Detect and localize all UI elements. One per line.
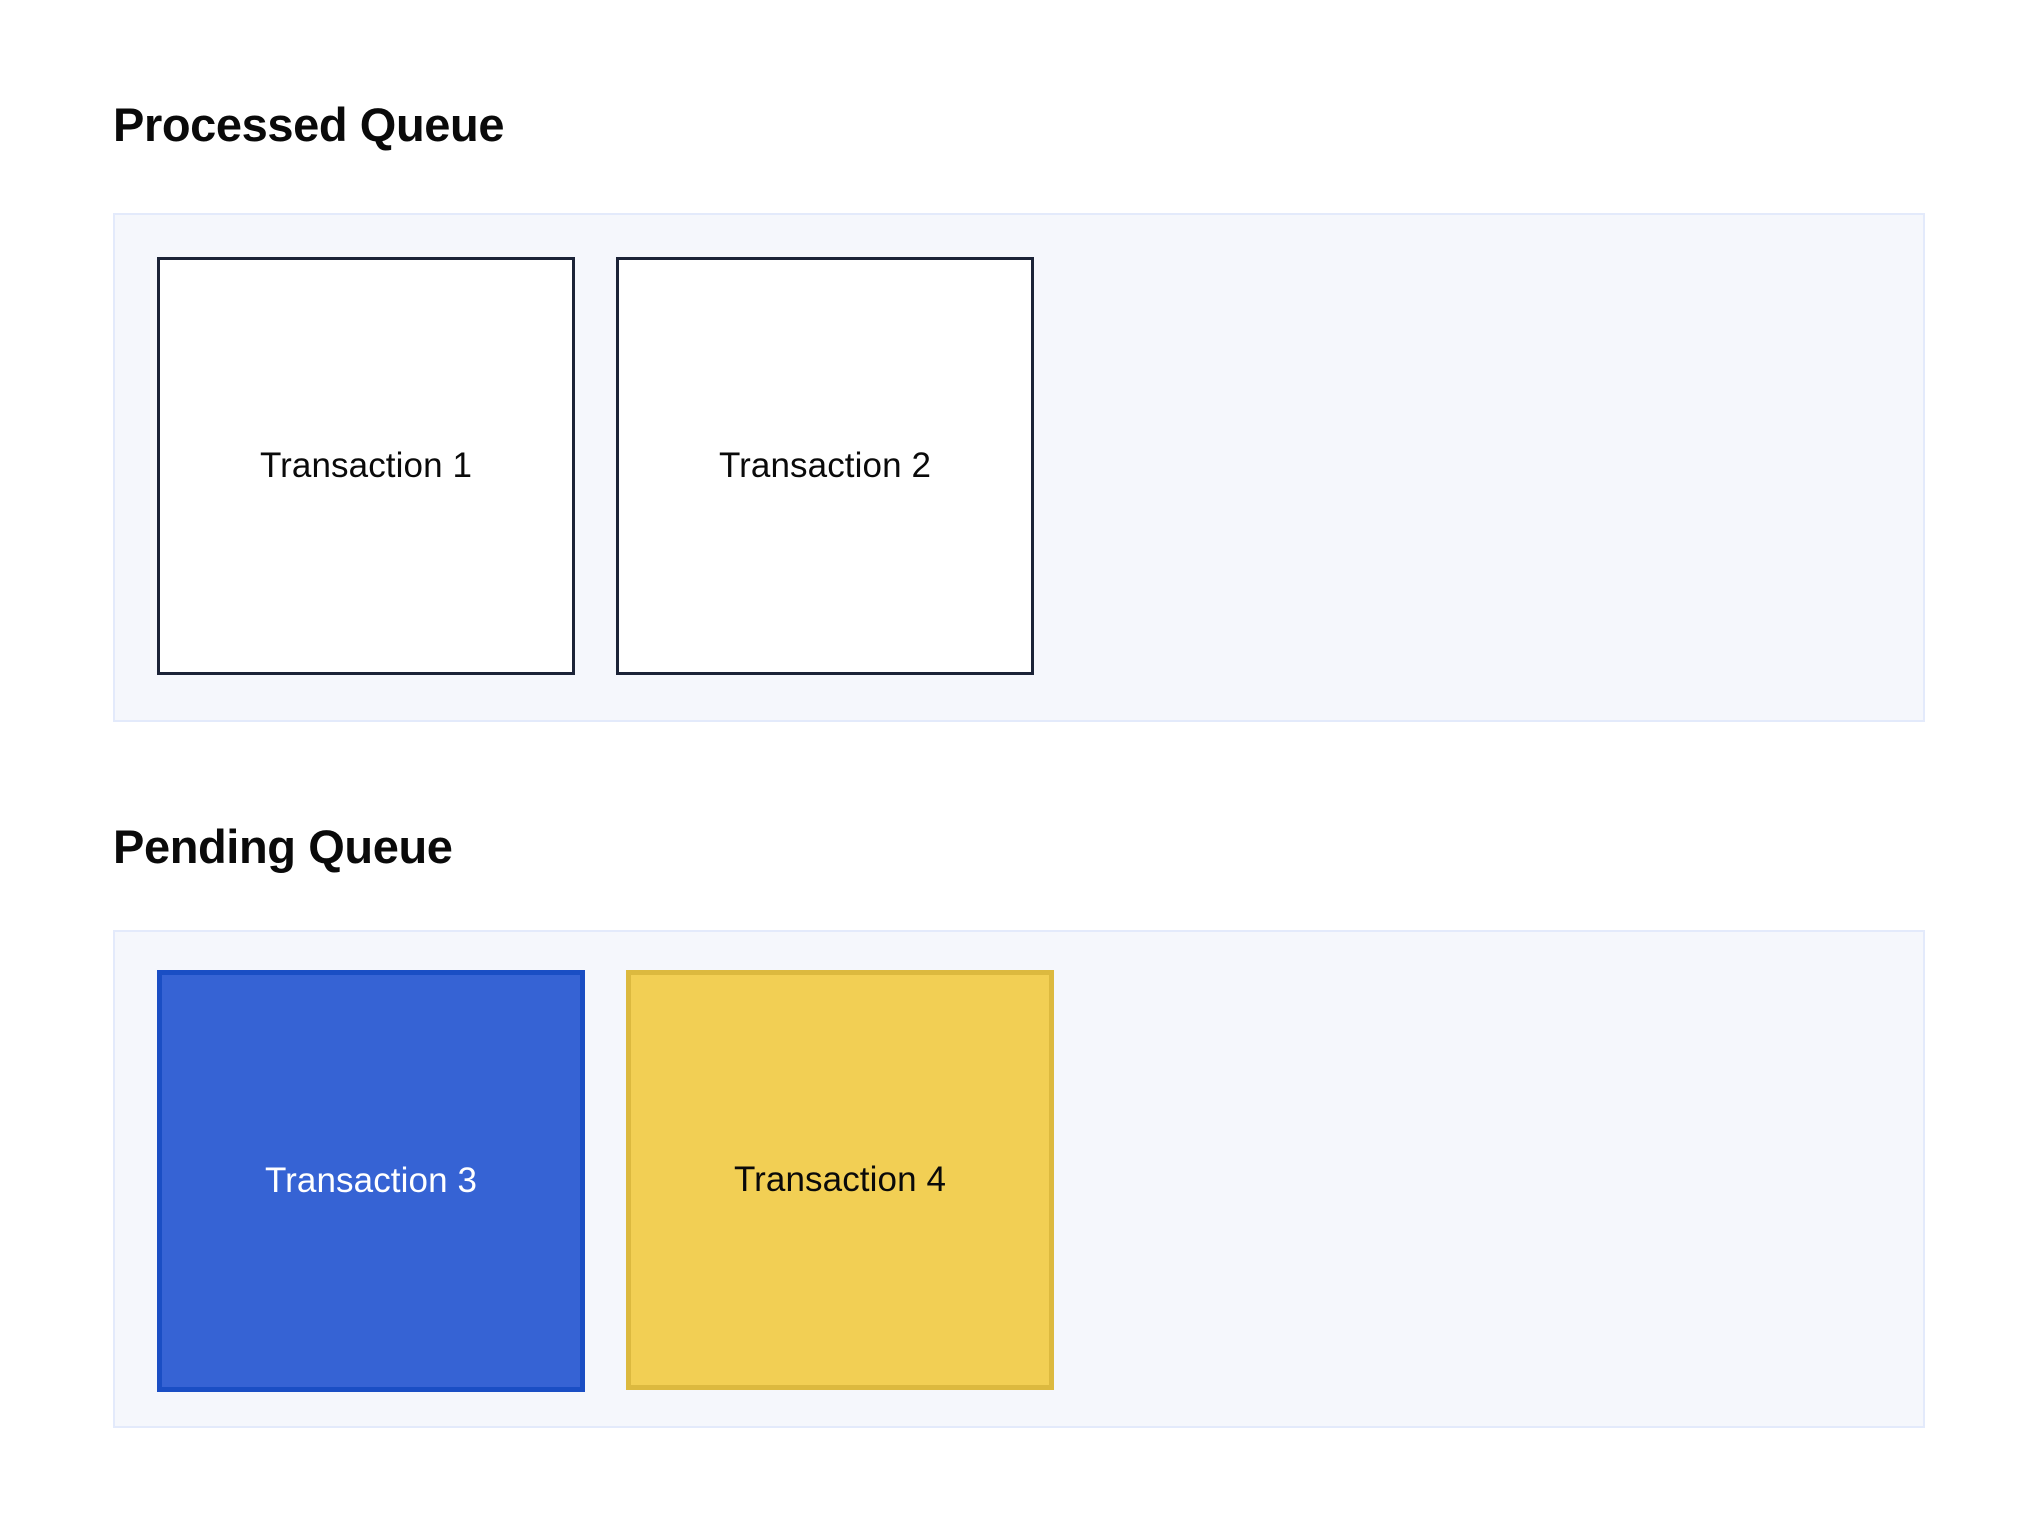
transaction-card-transaction-3[interactable]: Transaction 3 xyxy=(157,970,585,1392)
transaction-card-transaction-1[interactable]: Transaction 1 xyxy=(157,257,575,675)
transaction-card-transaction-4[interactable]: Transaction 4 xyxy=(626,970,1054,1390)
transaction-card-label-transaction-1: Transaction 1 xyxy=(260,445,472,487)
section-title-processed-queue: Processed Queue xyxy=(113,100,1925,149)
queue-visualization-canvas: Processed Queue Transaction 1 Transactio… xyxy=(0,0,2036,1532)
queue-track-pending-queue[interactable]: Transaction 3 Transaction 4 xyxy=(113,930,1925,1428)
transaction-card-label-transaction-4: Transaction 4 xyxy=(734,1159,946,1201)
transaction-card-transaction-2[interactable]: Transaction 2 xyxy=(616,257,1034,675)
queue-section-processed-queue: Processed Queue Transaction 1 Transactio… xyxy=(113,100,1925,722)
queue-track-processed-queue[interactable]: Transaction 1 Transaction 2 xyxy=(113,213,1925,722)
transaction-card-label-transaction-2: Transaction 2 xyxy=(719,445,931,487)
queue-section-pending-queue: Pending Queue Transaction 3 Transaction … xyxy=(113,822,1925,1428)
transaction-card-label-transaction-3: Transaction 3 xyxy=(265,1160,477,1202)
section-title-pending-queue: Pending Queue xyxy=(113,822,1925,871)
